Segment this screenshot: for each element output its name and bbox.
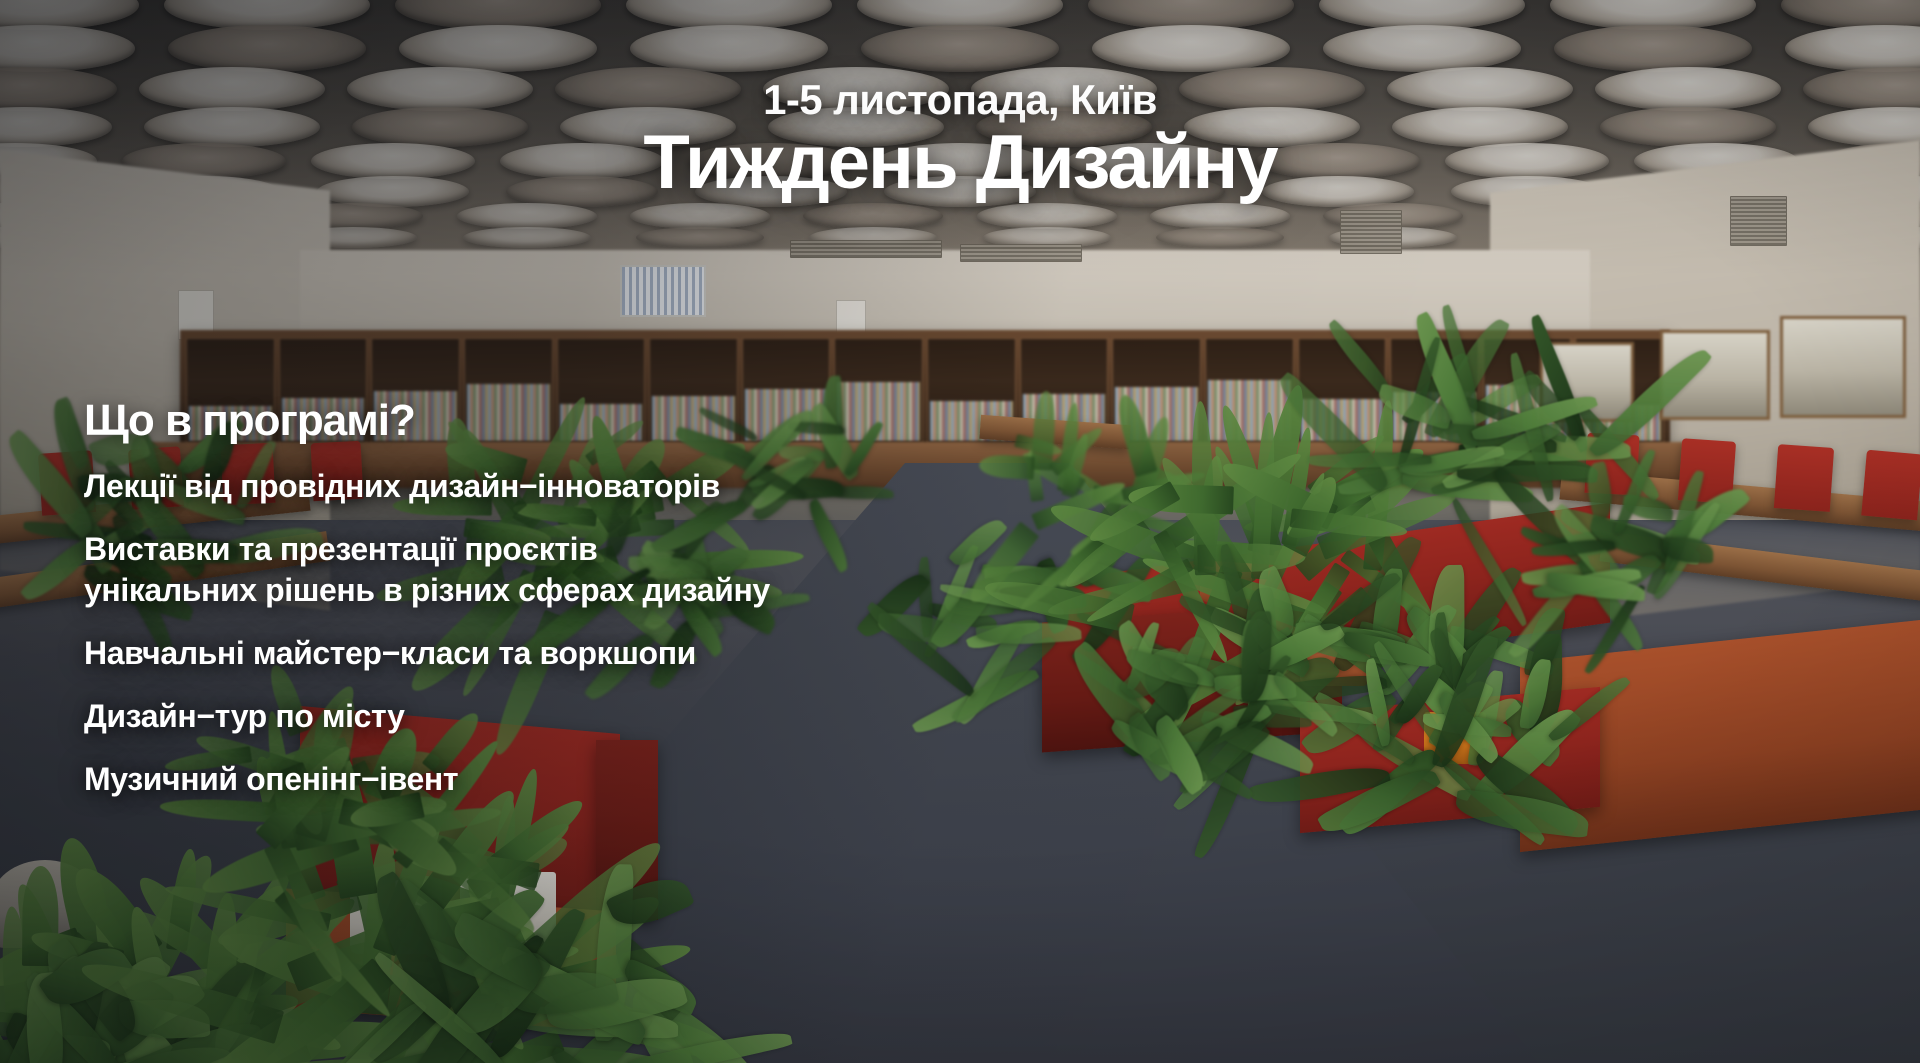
event-title: Тиждень Дизайну: [0, 124, 1920, 202]
event-date-location: 1-5 листопада, Київ: [0, 78, 1920, 122]
program-list-item: Лекції від провідних дизайн−інноваторів: [84, 466, 770, 507]
design-week-poster: 1-5 листопада, Київ Тиждень Дизайну Що в…: [0, 0, 1920, 1063]
program-heading: Що в програмі?: [84, 398, 770, 444]
program-list-item: Навчальні майстер−класи та воркшопи: [84, 633, 770, 674]
program-list-item: Музичний опенінг−івент: [84, 759, 770, 800]
program-list-item: Дизайн−тур по місту: [84, 696, 770, 737]
program-list-item: Виставки та презентації проєктів унікаль…: [84, 529, 770, 611]
text-overlay: 1-5 листопада, Київ Тиждень Дизайну Що в…: [0, 0, 1920, 1063]
header-block: 1-5 листопада, Київ Тиждень Дизайну: [0, 78, 1920, 202]
program-list: Лекції від провідних дизайн−інноваторівВ…: [84, 466, 770, 800]
program-section: Що в програмі? Лекції від провідних диза…: [84, 398, 770, 800]
